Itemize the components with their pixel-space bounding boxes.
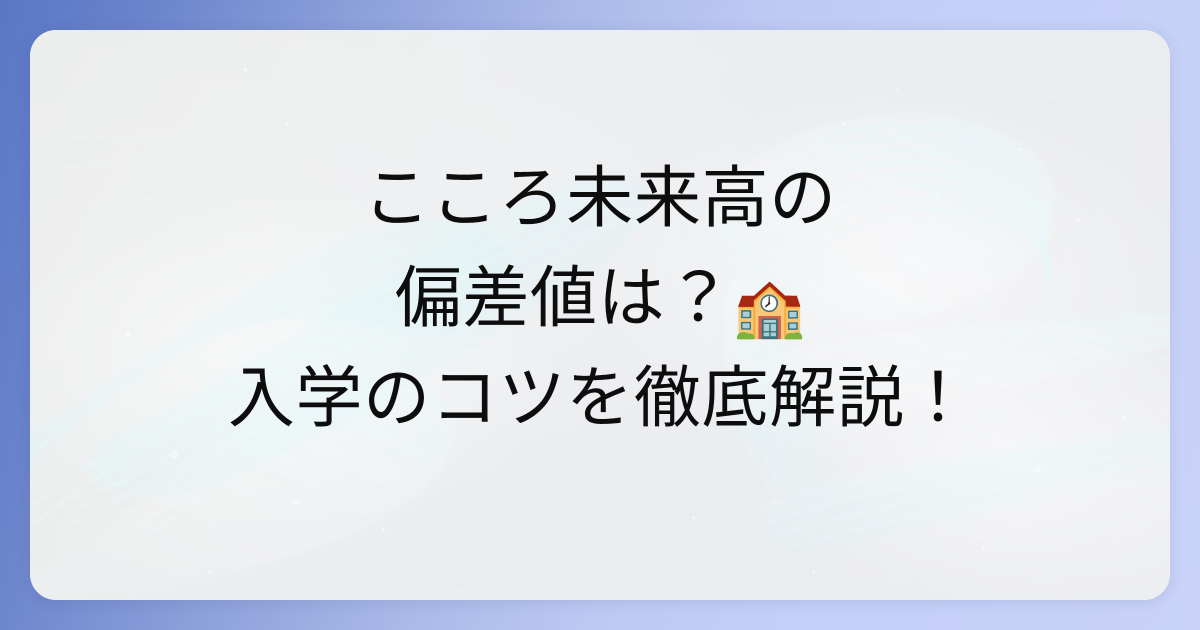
title-line-3-text: 入学のコツを徹底解説！ xyxy=(228,359,972,437)
title-line-3: 入学のコツを徹底解説！ xyxy=(70,348,1130,448)
page-title: こころ未来高の 偏差値は？🏫 入学のコツを徹底解説！ xyxy=(30,148,1170,448)
title-line-2: 偏差値は？🏫 xyxy=(70,248,1130,348)
school-icon: 🏫 xyxy=(733,273,805,341)
content-card: こころ未来高の 偏差値は？🏫 入学のコツを徹底解説！ xyxy=(30,30,1170,600)
title-line-2-text: 偏差値は？ xyxy=(395,259,733,337)
title-line-1: こころ未来高の xyxy=(70,148,1130,248)
title-line-1-text: こころ未来高の xyxy=(363,159,837,237)
og-image-canvas: こころ未来高の 偏差値は？🏫 入学のコツを徹底解説！ xyxy=(0,0,1200,630)
